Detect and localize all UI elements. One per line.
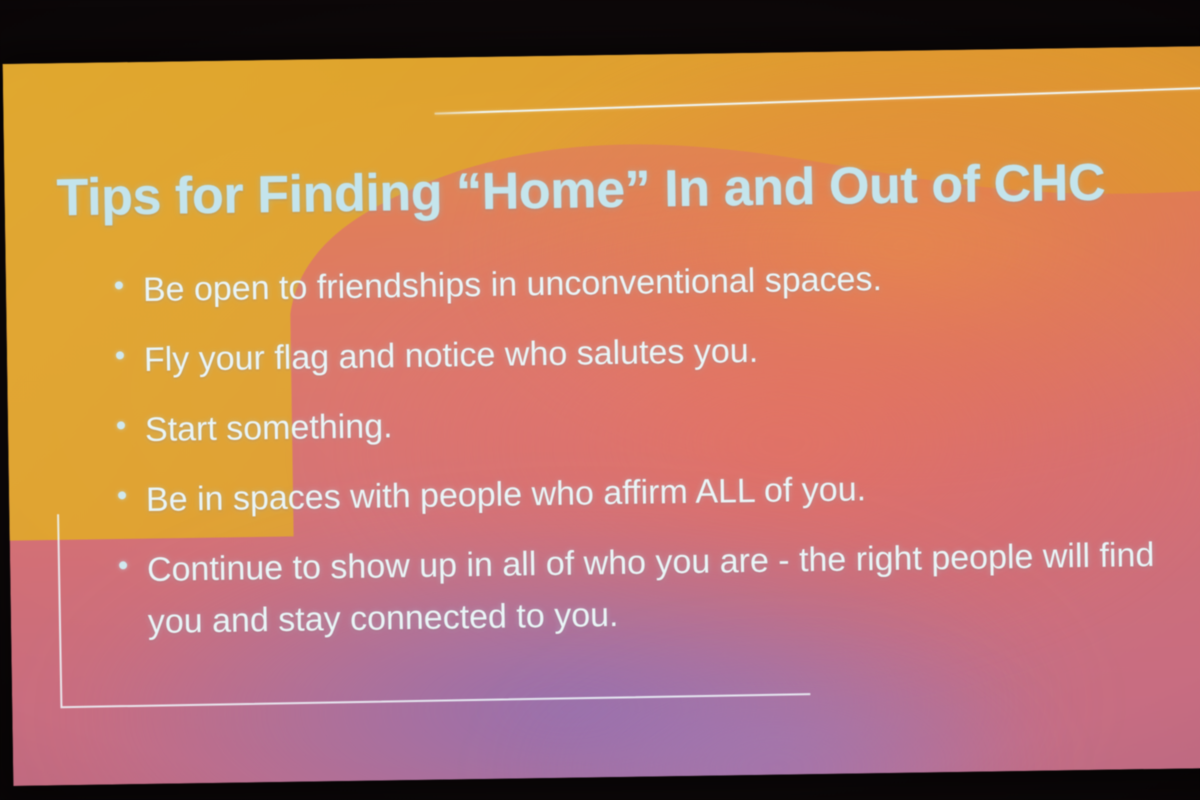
- bullet-dot-icon: [118, 491, 126, 499]
- bullet-dot-icon: [116, 351, 124, 359]
- bullet-item: Fly your flag and notice who salutes you…: [116, 319, 1157, 386]
- purple-glow-secondary: [495, 641, 1055, 786]
- projected-slide: Tips for Finding “Home” In and Out of CH…: [3, 46, 1200, 786]
- bullet-dot-icon: [115, 281, 123, 289]
- bullet-dot-icon: [119, 561, 127, 569]
- top-divider-rule: [434, 86, 1200, 114]
- bullet-text: Start something.: [145, 400, 393, 456]
- bullet-list: Be open to friendships in unconventional…: [115, 249, 1161, 666]
- slide-canvas: Tips for Finding “Home” In and Out of CH…: [3, 46, 1200, 786]
- bullet-dot-icon: [117, 421, 125, 429]
- bullet-text: Be open to friendships in unconventional…: [143, 253, 883, 316]
- bullet-item: Be in spaces with people who affirm ALL …: [118, 459, 1159, 526]
- bullet-item: Continue to show up in all of who you ar…: [119, 529, 1161, 648]
- bullet-text: Continue to show up in all of who you ar…: [147, 529, 1161, 648]
- bullet-text: Be in spaces with people who affirm ALL …: [146, 463, 867, 526]
- screenshot-stage: Tips for Finding “Home” In and Out of CH…: [0, 0, 1200, 800]
- bullet-item: Be open to friendships in unconventional…: [115, 249, 1156, 316]
- bullet-item: Start something.: [117, 389, 1158, 456]
- bullet-text: Fly your flag and notice who salutes you…: [144, 325, 759, 386]
- slide-title: Tips for Finding “Home” In and Out of CH…: [56, 152, 1170, 229]
